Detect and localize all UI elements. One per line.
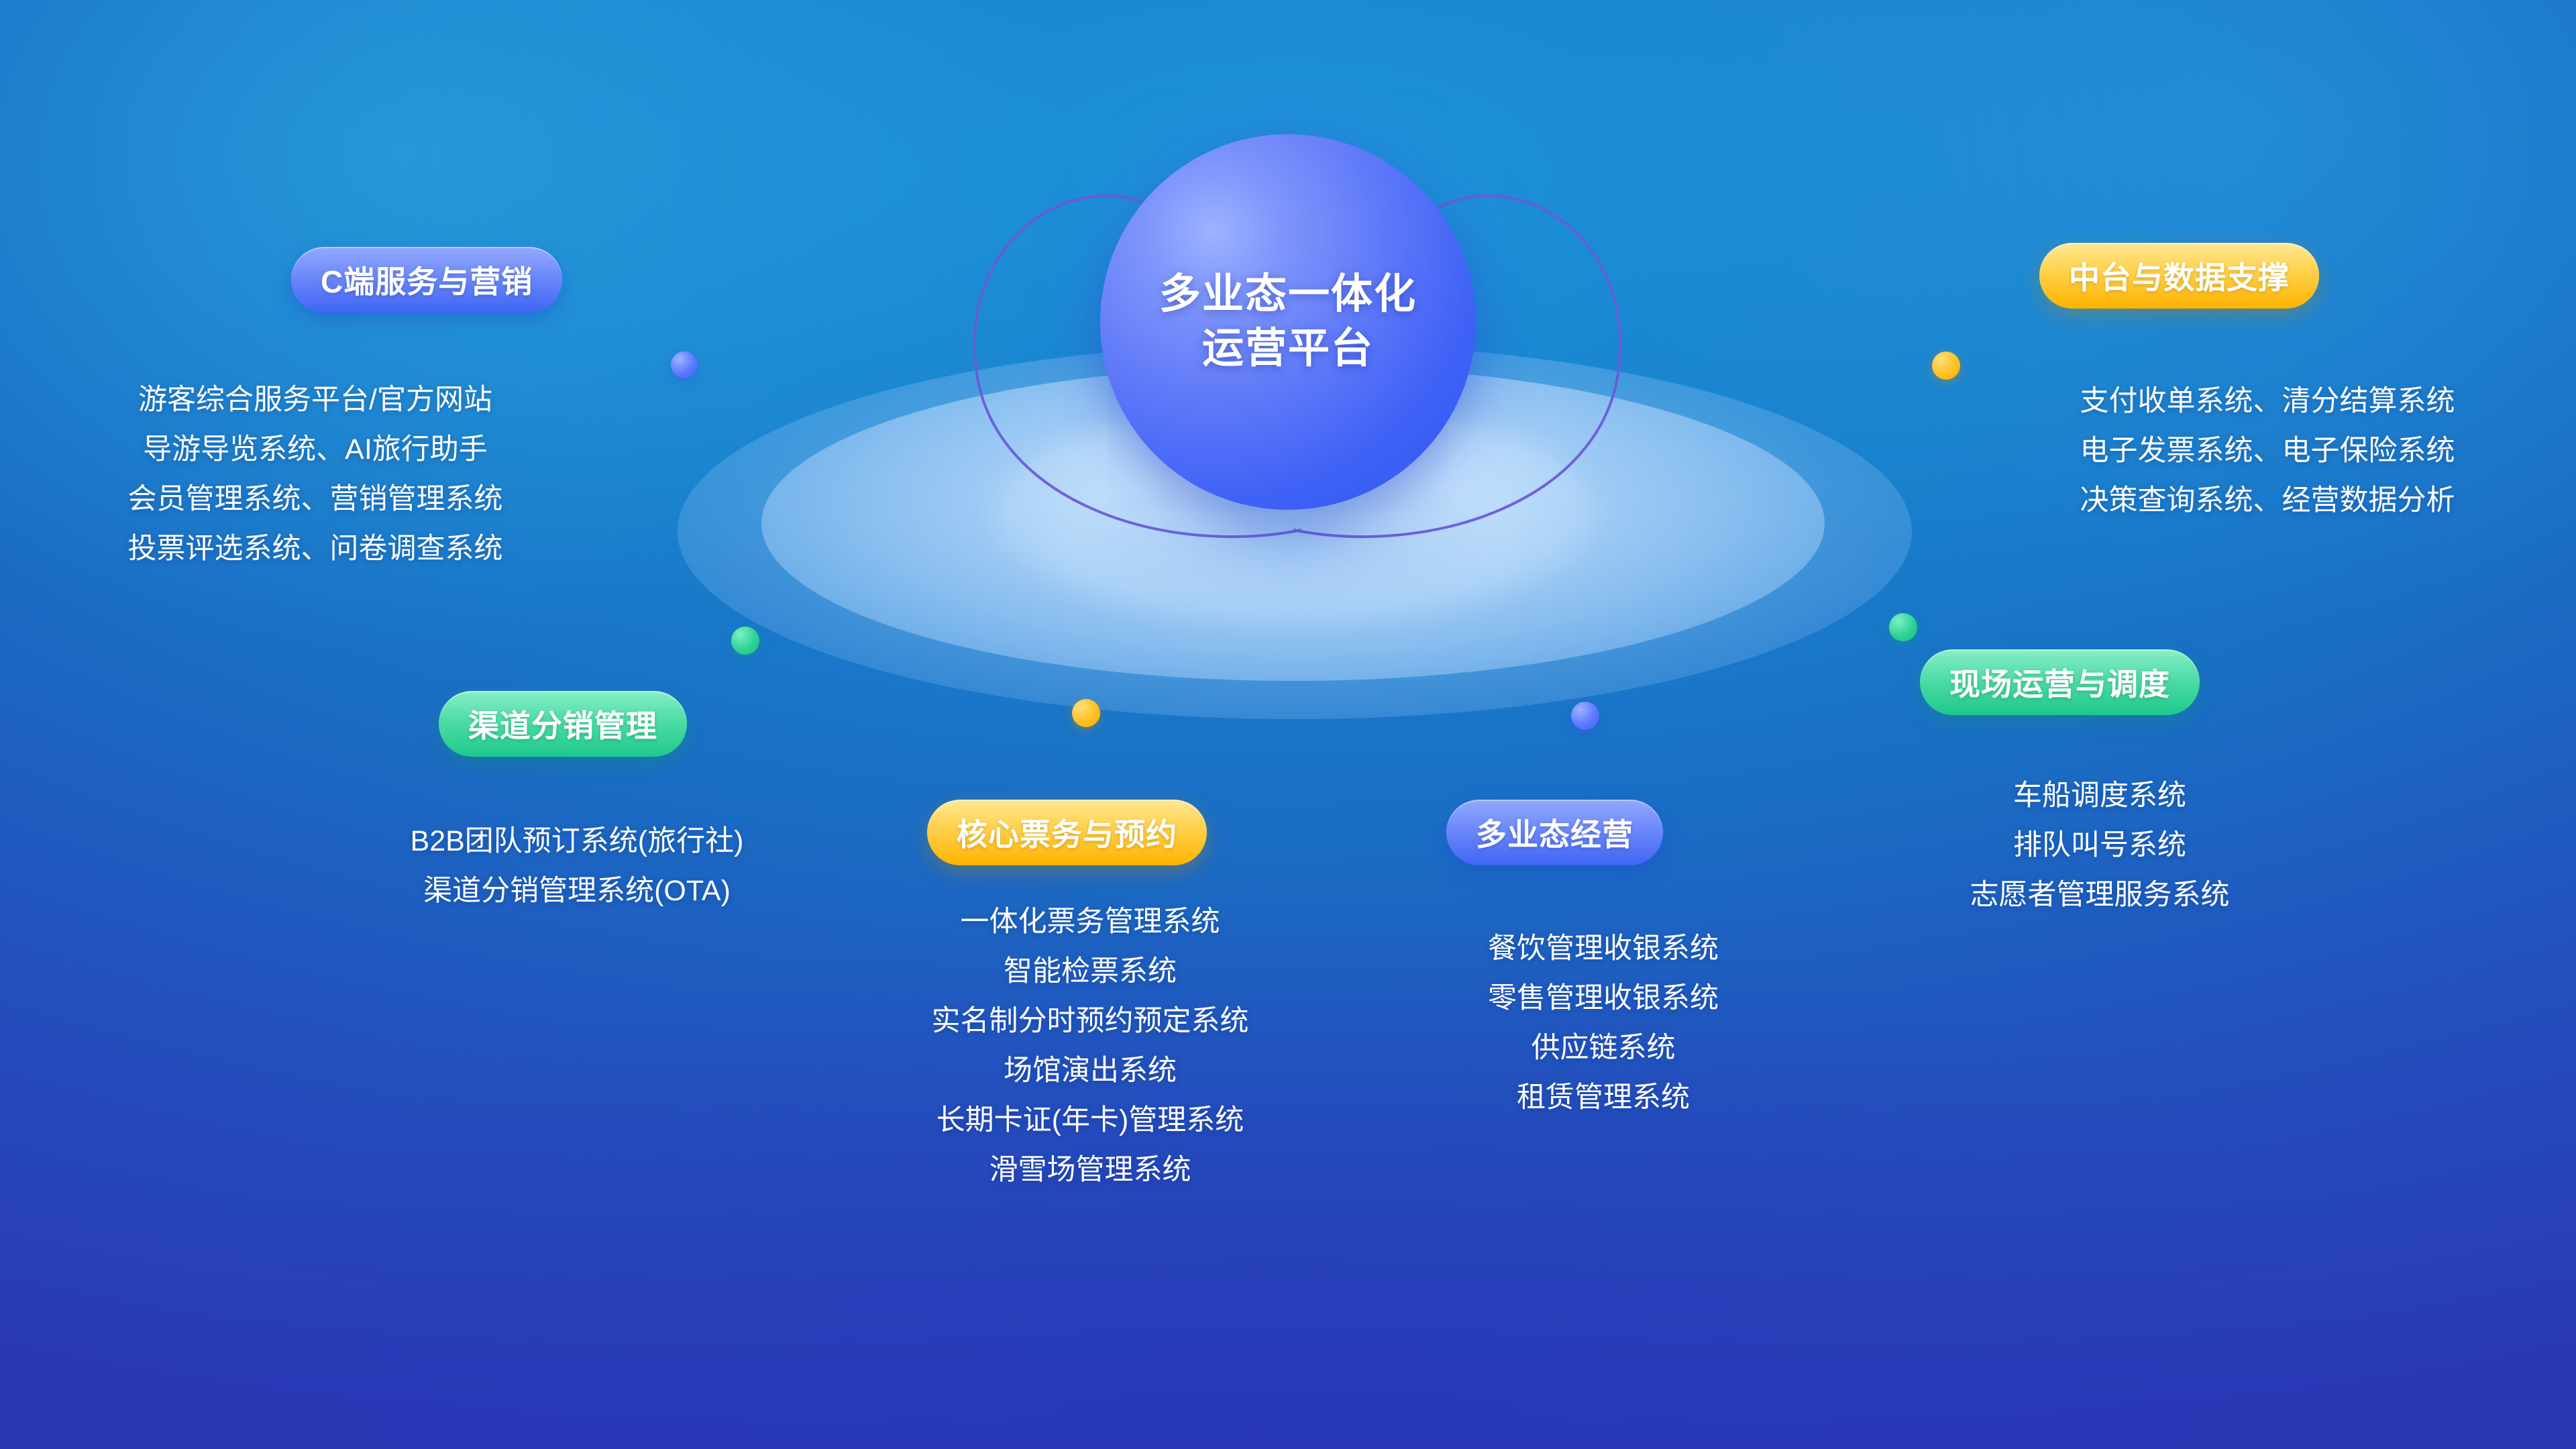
group-items-c-side-service-marketing: 游客综合服务平台/官方网站 导游导览系统、AI旅行助手 会员管理系统、营销管理系…: [40, 376, 590, 574]
list-item: 一体化票务管理系统: [852, 898, 1328, 947]
orbit-dot-left-green: [731, 627, 759, 655]
group-label-onsite-operations-dispatch[interactable]: 现场运营与调度: [1920, 649, 2200, 715]
list-item: 场馆演出系统: [852, 1046, 1328, 1096]
group-label-channel-distribution-management[interactable]: 渠道分销管理: [439, 691, 687, 757]
list-item: 游客综合服务平台/官方网站: [40, 376, 590, 425]
list-item: B2B团队预订系统(旅行社): [322, 817, 832, 867]
list-item: 供应链系统: [1395, 1024, 1811, 1073]
group-label-text: C端服务与营销: [321, 258, 533, 302]
list-item: 会员管理系统、营销管理系统: [40, 475, 590, 525]
group-label-multi-format-operations[interactable]: 多业态经营: [1446, 800, 1663, 865]
infographic-canvas: 多业态一体化 运营平台 C端服务与营销 游客综合服务平台/官方网站 导游导览系统…: [0, 0, 2576, 1449]
orbit-dot-right-green: [1889, 613, 1917, 641]
central-sphere-title: 多业态一体化 运营平台: [1159, 268, 1417, 376]
list-item: 租赁管理系统: [1395, 1073, 1811, 1123]
list-item: 志愿者管理服务系统: [1885, 871, 2314, 920]
list-item: 投票评选系统、问卷调查系统: [40, 525, 590, 574]
group-label-text: 现场运营与调度: [1949, 660, 2170, 704]
group-items-multi-format-operations: 餐饮管理收银系统 零售管理收银系统 供应链系统 租赁管理系统: [1395, 924, 1811, 1123]
background-glow-top-right: [1570, 0, 2576, 631]
list-item: 实名制分时预约预定系统: [852, 997, 1328, 1046]
central-sphere: 多业态一体化 运营平台: [1100, 134, 1476, 510]
list-item: 支付收单系统、清分结算系统: [1999, 377, 2536, 427]
list-item: 车船调度系统: [1885, 771, 2314, 821]
group-label-text: 中台与数据支撑: [2069, 254, 2290, 298]
group-label-text: 多业态经营: [1476, 810, 1633, 855]
group-items-midplatform-data-support: 支付收单系统、清分结算系统 电子发票系统、电子保险系统 决策查询系统、经营数据分…: [1999, 377, 2536, 526]
group-items-onsite-operations-dispatch: 车船调度系统 排队叫号系统 志愿者管理服务系统: [1885, 771, 2314, 920]
list-item: 导游导览系统、AI旅行助手: [40, 425, 590, 475]
orbit-dot-left-blue: [671, 352, 698, 378]
orbit-dot-mid-yellow: [1072, 699, 1100, 727]
group-label-text: 核心票务与预约: [957, 810, 1177, 855]
list-item: 零售管理收银系统: [1395, 974, 1811, 1024]
list-item: 长期卡证(年卡)管理系统: [852, 1096, 1328, 1146]
list-item: 决策查询系统、经营数据分析: [1999, 476, 2536, 526]
orbit-dot-mid-blue: [1571, 702, 1599, 730]
list-item: 电子发票系统、电子保险系统: [1999, 427, 2536, 476]
group-items-channel-distribution-management: B2B团队预订系统(旅行社) 渠道分销管理系统(OTA): [322, 817, 832, 916]
orbit-dot-right-yellow: [1932, 352, 1960, 380]
group-label-text: 渠道分销管理: [468, 702, 657, 746]
list-item: 餐饮管理收银系统: [1395, 924, 1811, 974]
list-item: 渠道分销管理系统(OTA): [322, 867, 832, 916]
list-item: 智能检票系统: [852, 947, 1328, 997]
group-items-core-ticketing-reservation: 一体化票务管理系统 智能检票系统 实名制分时预约预定系统 场馆演出系统 长期卡证…: [852, 898, 1328, 1195]
group-label-core-ticketing-reservation[interactable]: 核心票务与预约: [927, 800, 1207, 865]
list-item: 滑雪场管理系统: [852, 1146, 1328, 1195]
group-label-c-side-service-marketing[interactable]: C端服务与营销: [291, 247, 562, 313]
group-label-midplatform-data-support[interactable]: 中台与数据支撑: [2039, 243, 2319, 309]
list-item: 排队叫号系统: [1885, 821, 2314, 871]
